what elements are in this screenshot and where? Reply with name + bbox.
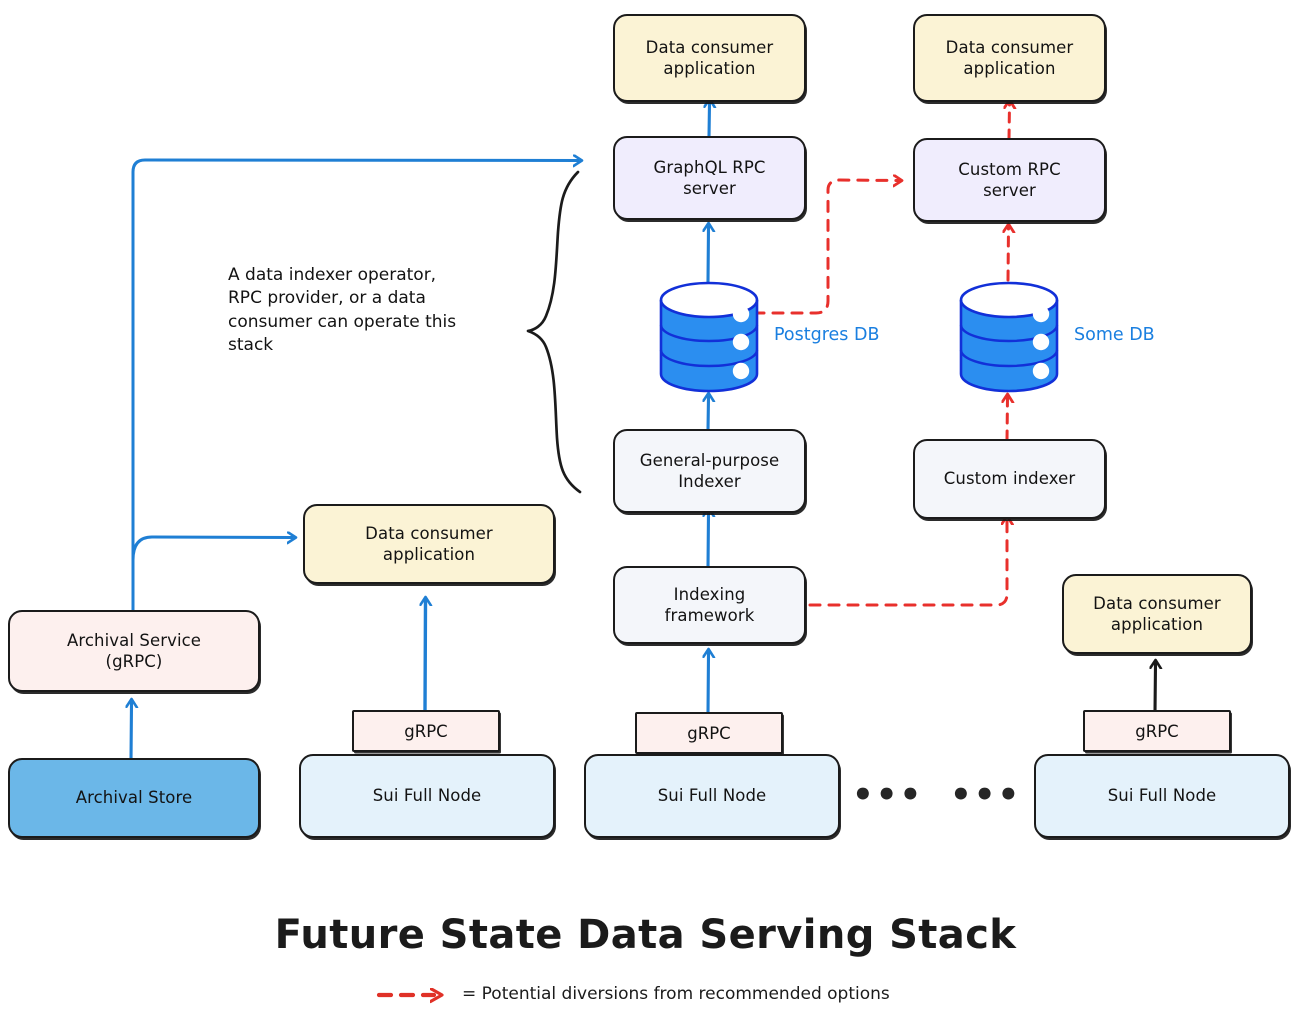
curly-brace <box>528 172 580 492</box>
arrow-framework-to-custom-indexer <box>810 520 1007 605</box>
node-label: Data consumer application <box>638 37 782 79</box>
postgres-db-icon <box>661 283 757 391</box>
ellipsis-left: ••• <box>852 778 923 812</box>
node-sui-full-node-a[interactable]: Sui Full Node <box>299 754 555 838</box>
node-label: Indexing framework <box>657 584 763 626</box>
node-sui-full-node-b[interactable]: Sui Full Node <box>584 754 840 838</box>
node-consumer-app-fullnode[interactable]: Data consumer application <box>1062 574 1252 654</box>
node-label: gRPC <box>1135 722 1178 741</box>
node-graphql-rpc-server[interactable]: GraphQL RPC server <box>613 136 806 220</box>
node-label: Sui Full Node <box>650 785 775 806</box>
stack-annotation: A data indexer operator, RPC provider, o… <box>228 264 528 358</box>
node-label: Archival Store <box>68 787 201 808</box>
arrow-grpc-a-to-consumer-app <box>425 601 426 712</box>
node-grpc-a[interactable]: gRPC <box>352 710 500 752</box>
node-label: gRPC <box>404 722 447 741</box>
node-custom-rpc-server[interactable]: Custom RPC server <box>913 138 1106 222</box>
arrow-graphql-to-consumer <box>709 103 710 137</box>
node-label: Data consumer application <box>938 37 1082 79</box>
arrow-custom-rpc-to-consumer <box>1009 104 1010 139</box>
node-label: Data consumer application <box>357 523 501 565</box>
ellipsis-right: ••• <box>950 778 1021 812</box>
node-label: Custom indexer <box>936 468 1083 489</box>
diagram-title: Future State Data Serving Stack <box>0 912 1291 958</box>
node-grpc-b[interactable]: gRPC <box>635 712 783 754</box>
some-db-icon <box>961 283 1057 391</box>
arrow-store-to-archival-service <box>131 703 132 760</box>
arrow-postgres-to-graphql <box>708 227 709 282</box>
node-label: Sui Full Node <box>365 785 490 806</box>
node-archival-service[interactable]: Archival Service (gRPC) <box>8 610 260 692</box>
node-grpc-c[interactable]: gRPC <box>1083 710 1231 752</box>
arrow-grpc-c-to-consumer-app <box>1155 664 1156 712</box>
node-consumer-app-archival[interactable]: Data consumer application <box>303 504 555 584</box>
node-label: GraphQL RPC server <box>645 157 773 199</box>
arrow-framework-to-indexer <box>708 512 709 568</box>
arrow-custom-indexer-to-somedb <box>1007 398 1008 440</box>
node-label: General-purpose Indexer <box>632 450 788 492</box>
arrow-indexer-to-postgres <box>708 397 709 430</box>
node-label: gRPC <box>687 724 730 743</box>
diagram-canvas: Data consumer application Data consumer … <box>0 0 1291 1018</box>
node-label: Data consumer application <box>1085 593 1229 635</box>
node-consumer-app-graphql[interactable]: Data consumer application <box>613 14 806 102</box>
legend-label: = Potential diversions from recommended … <box>462 984 890 1004</box>
node-label: Archival Service (gRPC) <box>59 630 209 672</box>
arrow-archival-to-consumer-app <box>133 537 292 560</box>
node-sui-full-node-c[interactable]: Sui Full Node <box>1034 754 1290 838</box>
node-label: Custom RPC server <box>950 159 1068 201</box>
arrow-grpc-b-to-framework <box>708 653 709 714</box>
node-consumer-app-custom[interactable]: Data consumer application <box>913 14 1106 102</box>
some-db-label: Some DB <box>1074 325 1155 345</box>
node-archival-store[interactable]: Archival Store <box>8 758 260 838</box>
postgres-db-label: Postgres DB <box>774 325 879 345</box>
arrow-somedb-to-custom-rpc <box>1008 228 1009 280</box>
node-indexing-framework[interactable]: Indexing framework <box>613 566 806 644</box>
node-label: Sui Full Node <box>1100 785 1225 806</box>
node-general-purpose-indexer[interactable]: General-purpose Indexer <box>613 429 806 513</box>
node-custom-indexer[interactable]: Custom indexer <box>913 439 1106 519</box>
